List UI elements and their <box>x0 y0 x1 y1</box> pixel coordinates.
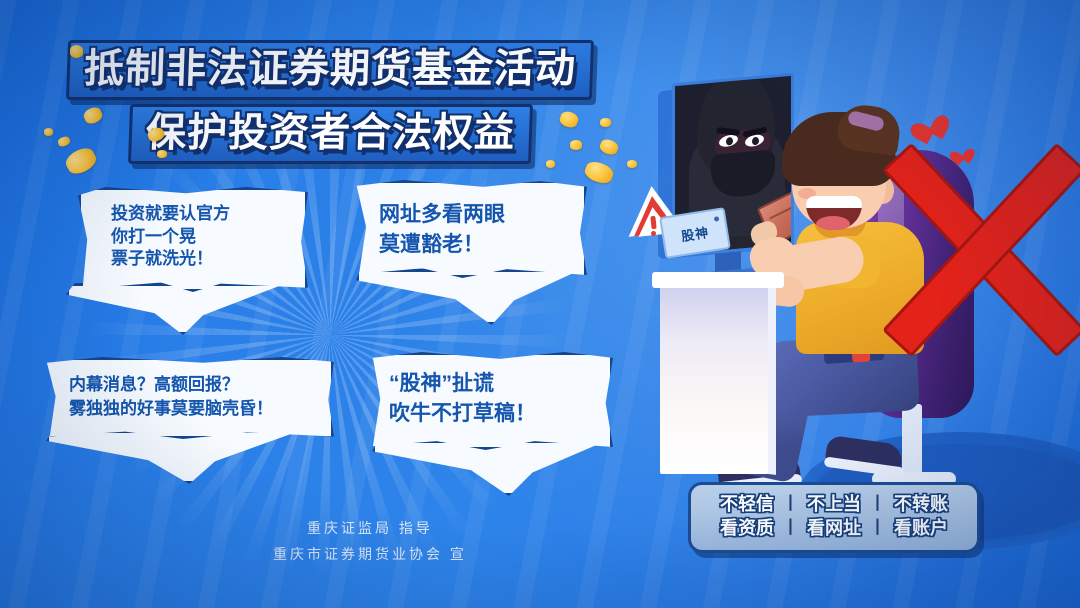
tips-separator: 丨 <box>869 493 886 516</box>
tips-separator: 丨 <box>782 517 799 540</box>
bubble-1: 投资就要认官方 你打一个晃 票子就洗光！ <box>78 187 308 292</box>
tip-no-transfer: 不转账 <box>894 492 948 516</box>
desk-top <box>652 272 784 288</box>
tips-badge: 不轻信 丨 不上当 丨 不转账 看资质 丨 看网址 丨 看账户 <box>688 482 980 553</box>
bubble-3-line-1: 内幕消息？高额回报？ <box>69 373 331 397</box>
gold-coin-icon <box>70 45 83 58</box>
heart-icon <box>920 114 957 150</box>
tip-check-website: 看网址 <box>807 516 861 540</box>
bubble-2: 网址多看两眼 莫遭豁老！ <box>352 180 587 278</box>
tip-no-blind-trust: 不轻信 <box>720 492 774 516</box>
bubble-4-line-2: 吹牛不打草稿！ <box>389 399 610 429</box>
tip-check-qualification: 看资质 <box>720 516 774 540</box>
bubble-2-line-2: 莫遭豁老！ <box>379 230 584 260</box>
footer-line-2: 重庆市证券期货业协会 宣 <box>170 542 570 568</box>
office-chair-stem <box>902 404 922 478</box>
bubble-1-tail <box>66 283 287 335</box>
tips-separator: 丨 <box>869 517 886 540</box>
bubble-1-line-1: 投资就要认官方 <box>111 203 305 226</box>
tips-separator: 丨 <box>782 493 799 516</box>
poster-title: 抵制非法证券期货基金活动 保护投资者合法权益 <box>0 38 660 167</box>
footer-credits: 重庆证监局 指导 重庆市证券期货业协会 宣 <box>170 516 570 568</box>
man-teeth <box>806 196 862 208</box>
tips-badge-row-2: 看资质 丨 看网址 丨 看账户 <box>691 516 977 540</box>
stock-god-tag-label: 股神 <box>680 221 711 244</box>
title-line-1: 抵制非法证券期货基金活动 <box>66 40 594 100</box>
bubble-2-tail <box>356 269 582 325</box>
man-tongue <box>816 216 850 230</box>
illustration-scene: 股神 <box>610 0 1080 608</box>
gold-coin-icon <box>44 128 53 136</box>
tip-no-deception: 不上当 <box>807 492 861 516</box>
bubble-3: 内幕消息？高额回报？ 雾独独的好事莫要脑壳昏！ <box>44 357 334 439</box>
tips-badge-row-1: 不轻信 丨 不上当 丨 不转账 <box>691 492 977 516</box>
poster-canvas: 抵制非法证券期货基金活动 保护投资者合法权益 投资就要认官方 你打一个晃 票子就… <box>0 0 1080 608</box>
gold-coin-icon <box>157 150 167 158</box>
gold-coin-icon <box>546 160 555 168</box>
tip-check-account: 看账户 <box>894 516 948 540</box>
bubble-3-line-2: 雾独独的好事莫要脑壳昏！ <box>69 397 331 421</box>
tag-hole <box>714 216 720 222</box>
gold-coin-icon <box>570 140 582 150</box>
desk-body <box>660 286 768 474</box>
bubble-2-line-1: 网址多看两眼 <box>379 200 584 230</box>
footer-line-1: 重庆证监局 指导 <box>170 516 570 542</box>
bubble-1-line-2: 你打一个晃 <box>111 226 305 249</box>
bubble-4-line-1: “股神”扯谎 <box>389 369 610 399</box>
bubble-1-line-3: 票子就洗光！ <box>111 248 305 271</box>
title-line-2: 保护投资者合法权益 <box>127 104 532 164</box>
bubble-4: “股神”扯谎 吹牛不打草稿！ <box>368 352 613 450</box>
warning-exclamation-dot <box>651 231 656 236</box>
heart-icon-small <box>957 149 978 169</box>
bubble-3-tail <box>46 430 302 484</box>
